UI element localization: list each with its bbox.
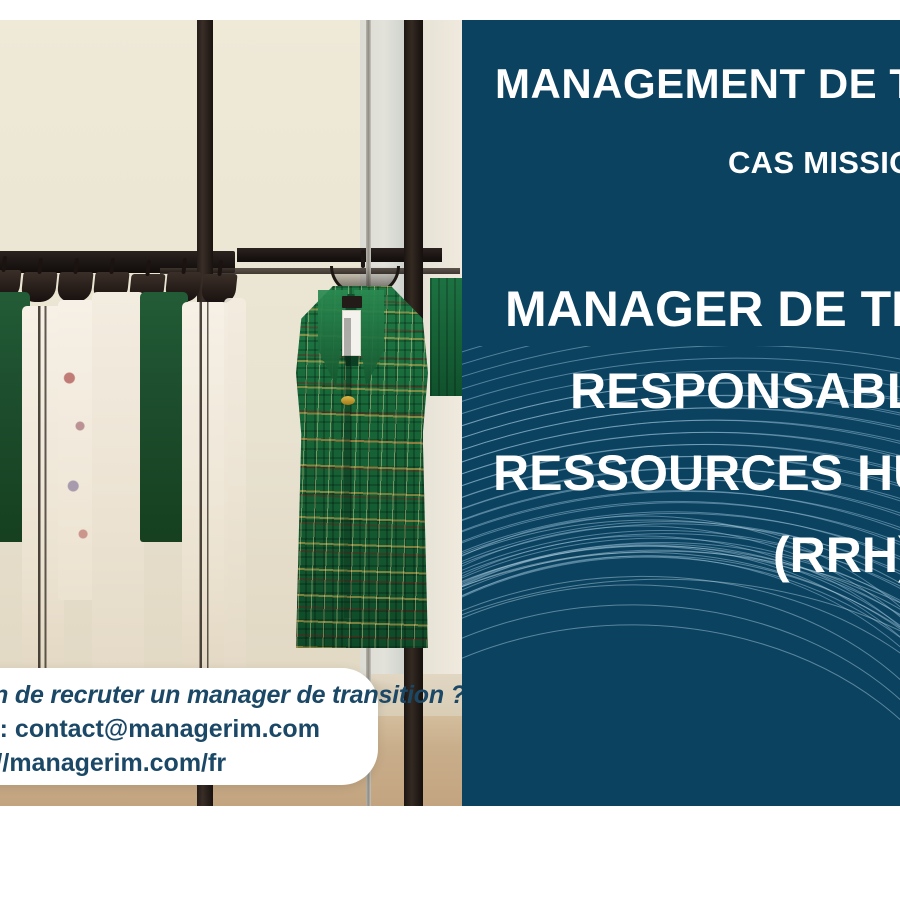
contact-email[interactable]: Email : contact@managerim.com	[0, 712, 378, 746]
photo-green-coat	[282, 260, 442, 660]
headline-line-1: MANAGER DE TRANSITION	[505, 268, 900, 350]
photo-coat-brand-tag	[342, 296, 362, 308]
photo-garment-striped	[182, 302, 228, 718]
headline-line-2: RESPONSABLE	[570, 350, 900, 432]
photo-garment-edge	[430, 278, 462, 396]
photo-garment-cream	[92, 292, 144, 712]
photo-garment-cream	[224, 298, 246, 708]
headline-line-4: (RRH)	[773, 514, 900, 596]
promo-banner: Besoin de recruter un manager de transit…	[0, 20, 900, 806]
headline-line-3: RESSOURCES HUMAINES	[493, 432, 900, 514]
photo-coat-placket	[344, 318, 351, 618]
panel-eyebrow-sub: CAS MISSION	[728, 145, 900, 181]
photo-coat-button	[341, 396, 355, 405]
panel-eyebrow: MANAGEMENT DE TRANSITION	[495, 60, 900, 108]
contact-question: Besoin de recruter un manager de transit…	[0, 678, 378, 712]
title-panel: MANAGEMENT DE TRANSITION CAS MISSION MAN…	[462, 20, 900, 806]
contact-website[interactable]: https://managerim.com/fr	[0, 746, 378, 780]
photo-garment-green	[140, 292, 188, 542]
contact-card: Besoin de recruter un manager de transit…	[0, 668, 378, 785]
photo-garment-floral	[58, 300, 96, 600]
